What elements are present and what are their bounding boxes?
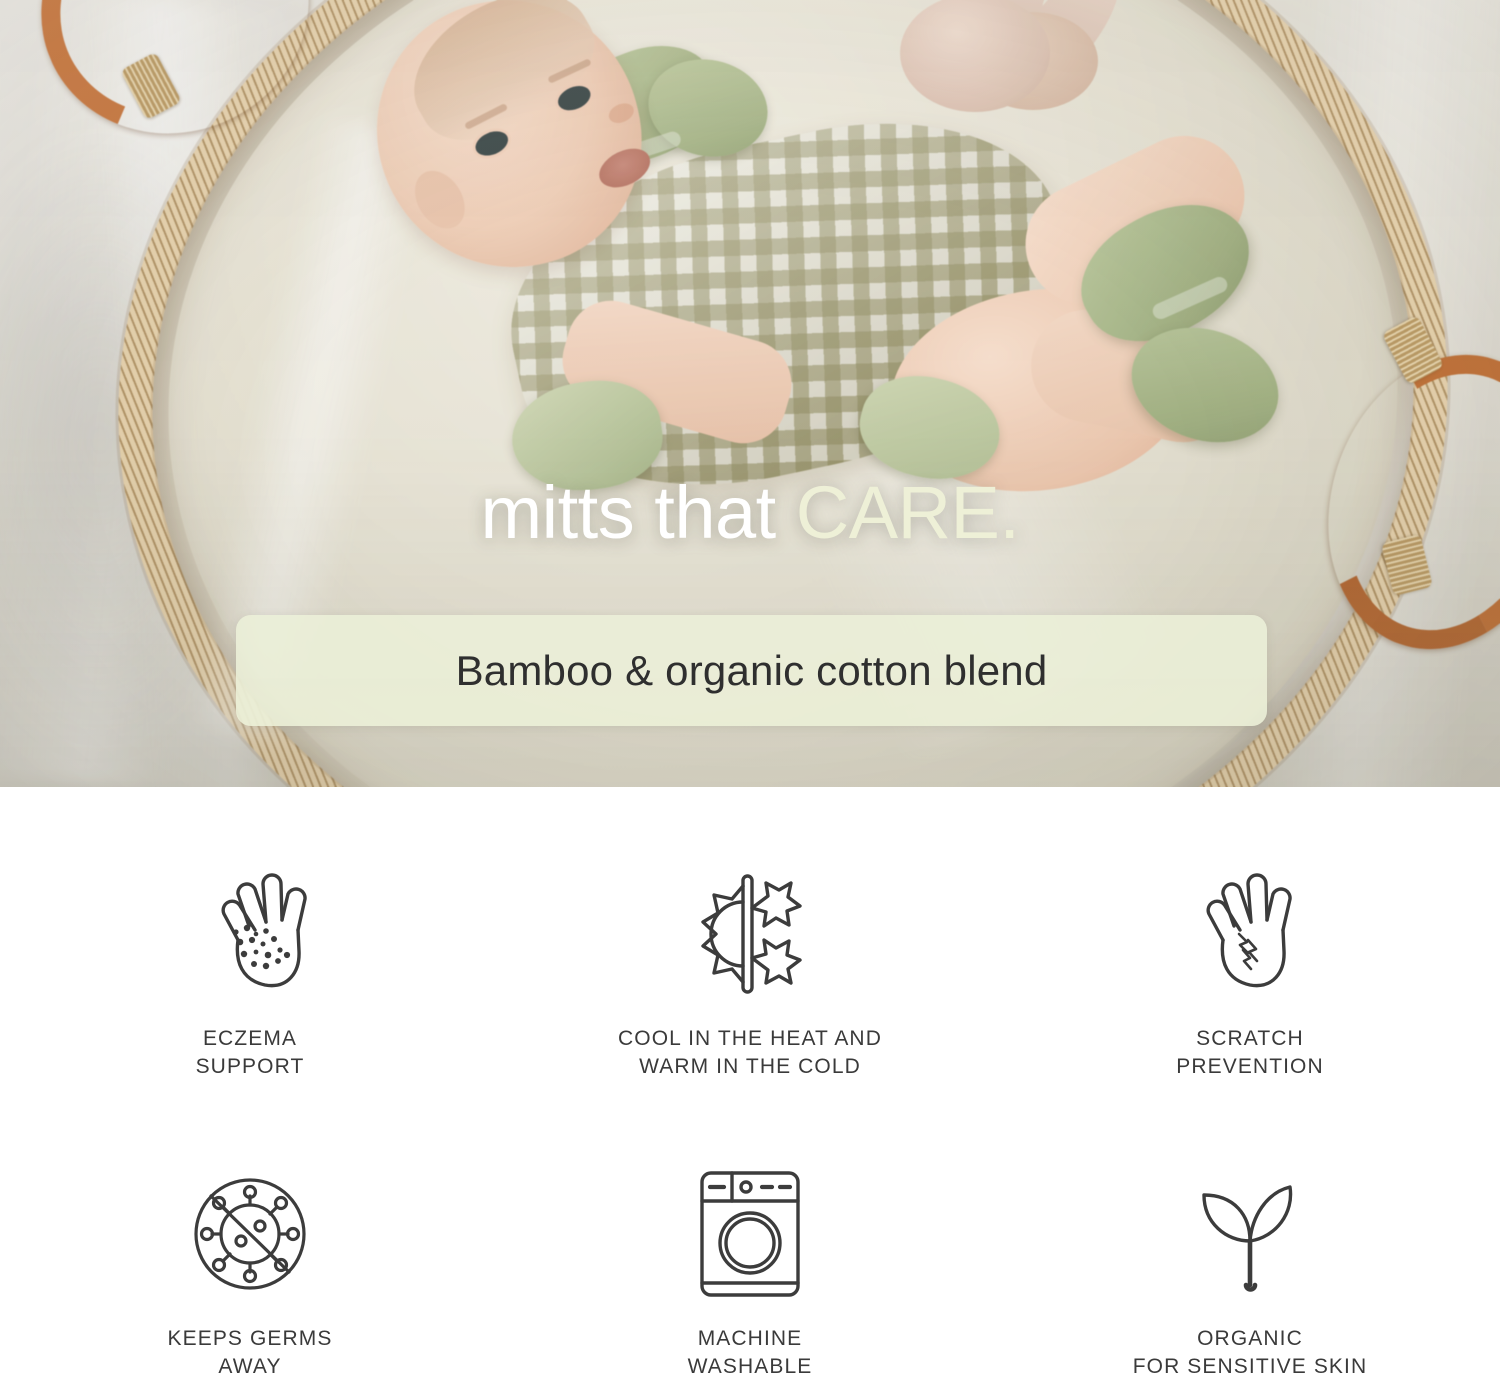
feature-label: MACHINE WASHABLE — [688, 1325, 813, 1380]
hand-with-scratch-marks-icon — [1185, 859, 1315, 1009]
sprout-leaf-icon — [1190, 1159, 1310, 1309]
feature-machine-washable: MACHINE WASHABLE — [500, 1159, 1000, 1380]
feature-temperature-regulating: COOL IN THE HEAT AND WARM IN THE COLD — [500, 859, 1000, 1080]
hero-headline-accent: CARE. — [796, 471, 1020, 554]
hero-headline: mitts that CARE. — [0, 476, 1500, 550]
feature-eczema-support: ECZEMA SUPPORT — [0, 859, 500, 1080]
hero-banner: mitts that CARE. Bamboo & organic cotton… — [0, 0, 1500, 787]
hero-material-badge: Bamboo & organic cotton blend — [236, 615, 1267, 726]
feature-organic-sensitive-skin: ORGANIC FOR SENSITIVE SKIN — [1000, 1159, 1500, 1380]
hero-material-badge-text: Bamboo & organic cotton blend — [456, 647, 1048, 695]
washing-machine-icon — [694, 1159, 806, 1309]
hand-with-rash-dots-icon — [200, 859, 300, 1009]
feature-label: ECZEMA SUPPORT — [196, 1025, 305, 1080]
feature-grid: ECZEMA SUPPORT COOL IN THE HEAT A — [0, 787, 1500, 1397]
product-feature-page: mitts that CARE. Bamboo & organic cotton… — [0, 0, 1500, 1397]
feature-row-1: ECZEMA SUPPORT COOL IN THE HEAT A — [0, 859, 1500, 1080]
feature-label: ORGANIC FOR SENSITIVE SKIN — [1133, 1325, 1368, 1380]
hero-headline-plain: mitts that — [481, 471, 796, 554]
feature-row-2: KEEPS GERMS AWAY — [0, 1159, 1500, 1380]
feature-label: KEEPS GERMS AWAY — [168, 1325, 333, 1380]
hero-copy: mitts that CARE. Bamboo & organic cotton… — [0, 0, 1500, 787]
feature-label: SCRATCH PREVENTION — [1176, 1025, 1324, 1080]
feature-keeps-germs-away: KEEPS GERMS AWAY — [0, 1159, 500, 1380]
feature-label: COOL IN THE HEAT AND WARM IN THE COLD — [618, 1025, 882, 1080]
no-germs-virus-icon — [184, 1159, 316, 1309]
sun-snowflake-split-icon — [680, 859, 820, 1009]
feature-scratch-prevention: SCRATCH PREVENTION — [1000, 859, 1500, 1080]
